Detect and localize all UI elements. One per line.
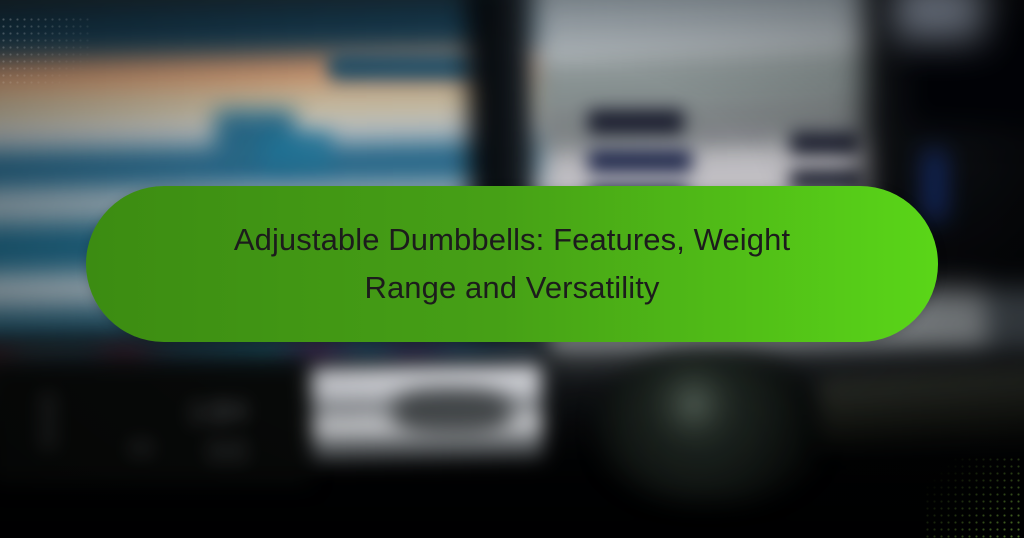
title-pill: Adjustable Dumbbells: Features, Weight R… <box>86 186 938 342</box>
page-title: Adjustable Dumbbells: Features, Weight R… <box>212 216 812 312</box>
featured-image-card: Adjustable Dumbbells: Features, Weight R… <box>0 0 1024 538</box>
